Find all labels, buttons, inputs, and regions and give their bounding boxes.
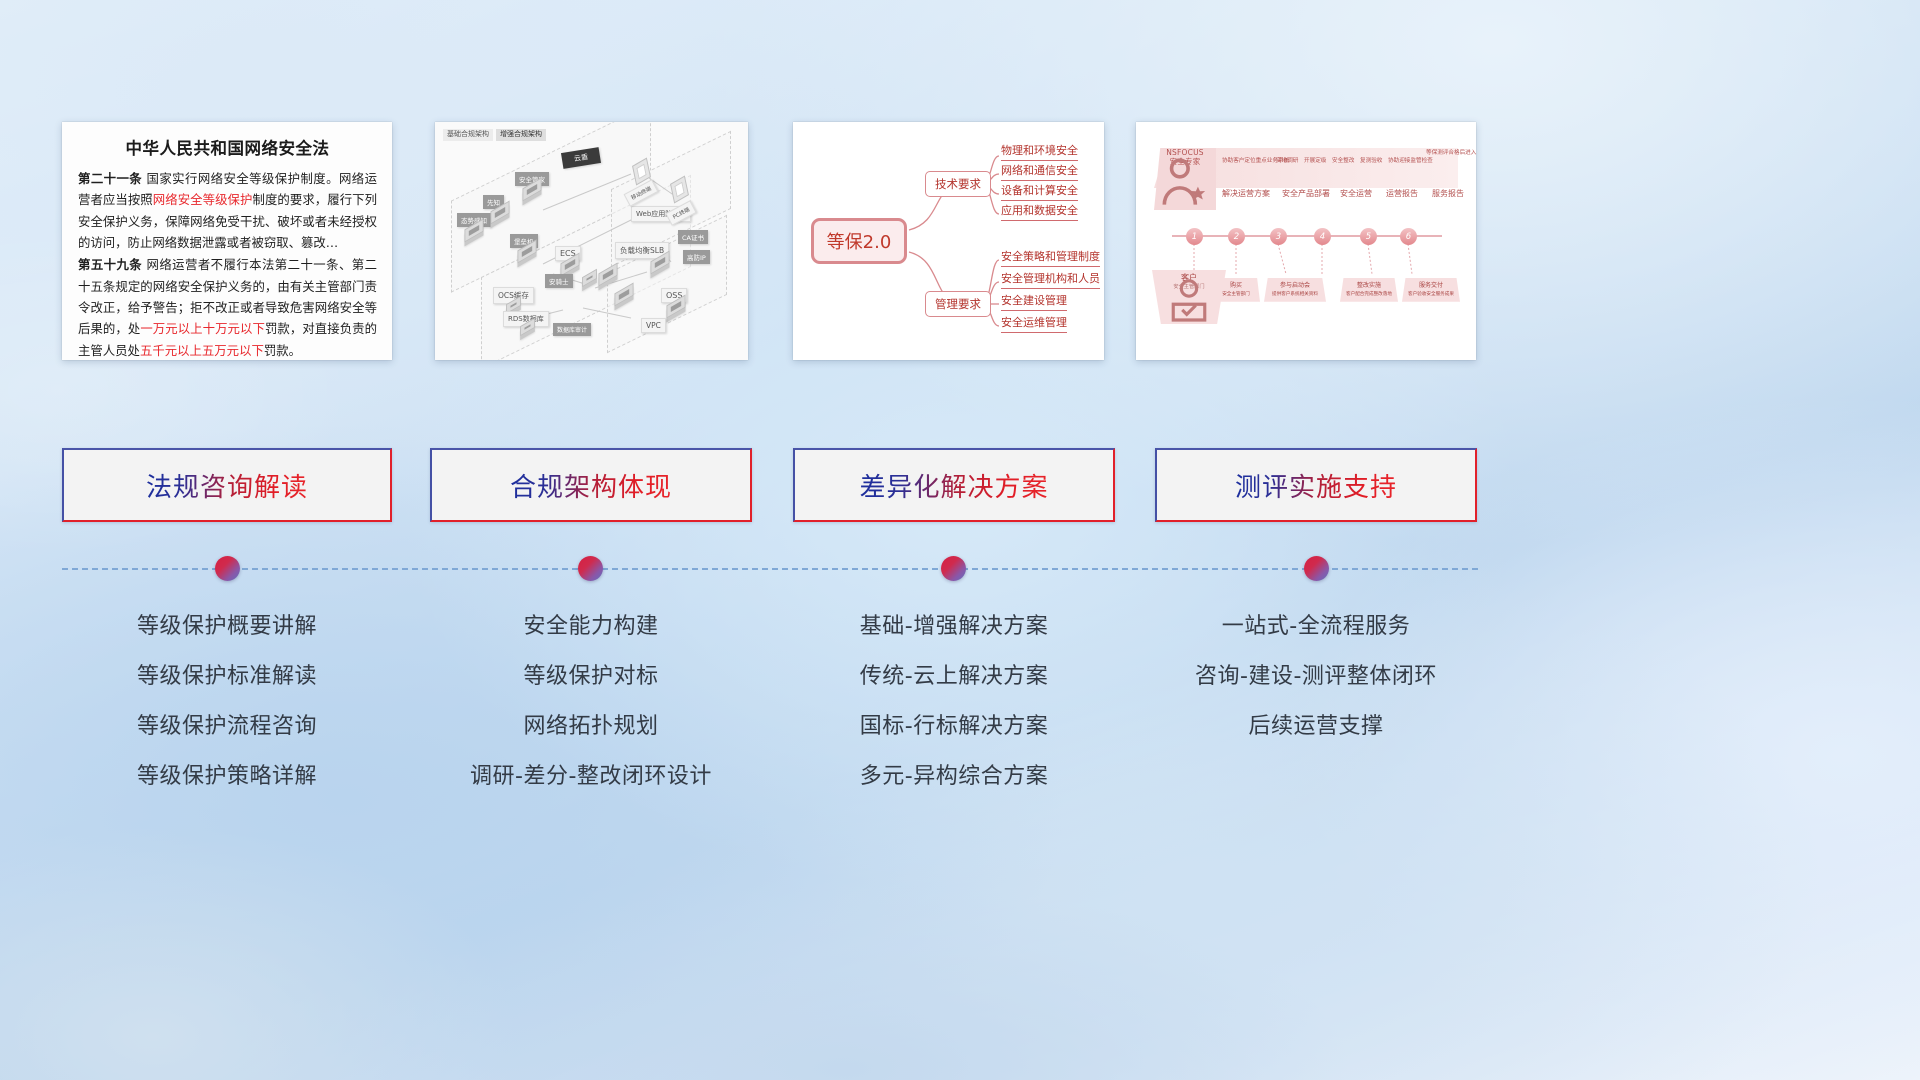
timeline-node-3 (941, 556, 966, 581)
timeline-dashed-line (62, 568, 1478, 570)
article-21-highlight: 网络安全等级保护 (153, 192, 253, 207)
law-article-59: 第五十九条 网络运营者不履行本法第二十一条、第二十五条规定的网络安全保护义务的，… (78, 254, 377, 360)
detail-item-1-0: 等级保护概要讲解 (62, 602, 392, 652)
detail-item-4-2: 后续运营支撑 (1155, 702, 1477, 752)
article-21-label: 第二十一条 (78, 171, 142, 186)
detail-item-3-1: 传统-云上解决方案 (793, 652, 1115, 702)
headline-box-compliance-architecture[interactable]: 合规架构体现 (430, 448, 752, 522)
article-59-highlight-b: 五千元以上五万元以下 (140, 343, 264, 358)
detail-item-2-3: 调研-差分-整改闭环设计 (430, 752, 752, 802)
detail-item-3-2: 国标-行标解决方案 (793, 702, 1115, 752)
card-cloud-architecture[interactable]: 基础合规架构 增强合规架构 (435, 122, 748, 360)
node-ca-certificate: CA证书 (678, 230, 708, 244)
step-dot-6: 6 (1400, 228, 1417, 245)
headline-row: 法规咨询解读 合规架构体现 差异化解决方案 测评实施支持 (0, 448, 1920, 522)
mindmap-leaf-physical-env: 物理和环境安全 (1001, 144, 1078, 161)
mindmap-root: 等保2.0 (811, 218, 907, 264)
bottom-chip-3: 服务交付 客户验收安全服务成果 (1402, 278, 1460, 302)
card-cybersecurity-law[interactable]: 中华人民共和国网络安全法 第二十一条 国家实行网络安全等级保护制度。网络运营者应… (62, 122, 392, 360)
timeline-node-4 (1304, 556, 1329, 581)
article-59-text-c: 罚款。 (264, 343, 301, 358)
law-title: 中华人民共和国网络安全法 (78, 135, 377, 159)
detail-item-2-2: 网络拓扑规划 (430, 702, 752, 752)
bottom-chip-2-sub: 客户配合完成整改落地 (1346, 292, 1392, 297)
node-vpc: VPC (641, 318, 666, 333)
detail-column-2: 安全能力构建 等级保护对标 网络拓扑规划 调研-差分-整改闭环设计 (430, 602, 752, 802)
mindmap-leaf-org-personnel: 安全管理机构和人员 (1001, 272, 1100, 289)
step-dot-4: 4 (1314, 228, 1331, 245)
law-text-block: 中华人民共和国网络安全法 第二十一条 国家实行网络安全等级保护制度。网络运营者应… (62, 122, 392, 360)
mindmap-leaf-construction-mgmt: 安全建设管理 (1001, 294, 1067, 311)
bottom-chip-0-title: 购买 (1230, 282, 1242, 289)
mindmap-leaf-policy-system: 安全策略和管理制度 (1001, 250, 1100, 267)
node-anqishi: 安骑士 (545, 274, 573, 288)
step-dot-2: 2 (1228, 228, 1245, 245)
headline-box-regulation-consulting[interactable]: 法规咨询解读 (62, 448, 392, 522)
detail-item-4-0: 一站式-全流程服务 (1155, 602, 1477, 652)
detail-item-1-1: 等级保护标准解读 (62, 652, 392, 702)
law-article-21: 第二十一条 国家实行网络安全等级保护制度。网络运营者应当按照网络安全等级保护制度… (78, 168, 377, 253)
detail-item-1-3: 等级保护策略详解 (62, 752, 392, 802)
article-59-label: 第五十九条 (78, 257, 142, 272)
bottom-chip-1-title: 参与启动会 (1280, 282, 1310, 289)
detail-column-1: 等级保护概要讲解 等级保护标准解读 等级保护流程咨询 等级保护策略详解 (62, 602, 392, 802)
mindmap-branch-management: 管理要求 (925, 291, 991, 317)
node-anti-ddos-ip: 高防IP (683, 250, 710, 264)
bottom-chip-1: 参与启动会 提供客户系统相关资料 (1264, 278, 1326, 302)
timeline-connector (0, 560, 1920, 600)
detail-item-1-2: 等级保护流程咨询 (62, 702, 392, 752)
detail-item-3-3: 多元-异构综合方案 (793, 752, 1115, 802)
detail-item-3-0: 基础-增强解决方案 (793, 602, 1115, 652)
step-dot-3: 3 (1270, 228, 1287, 245)
mindmap-leaf-device-compute: 设备和计算安全 (1001, 184, 1078, 201)
mindmap-leaf-app-data: 应用和数据安全 (1001, 204, 1078, 221)
detail-column-4: 一站式-全流程服务 咨询-建设-测评整体闭环 后续运营支撑 (1155, 602, 1477, 752)
headline-box-differentiated-solutions[interactable]: 差异化解决方案 (793, 448, 1115, 522)
bottom-chip-1-sub: 提供客户系统相关资料 (1272, 292, 1318, 297)
bottom-chip-3-title: 服务交付 (1419, 282, 1443, 289)
bottom-chip-2-title: 整改实施 (1357, 282, 1381, 289)
headline-label-4: 测评实施支持 (1235, 467, 1397, 504)
card-mindmap-dengbao[interactable]: 等保2.0 技术要求 管理要求 物理和环境安全 网络和通信安全 设备和计算安全 … (793, 122, 1104, 360)
architecture-diagram: 基础合规架构 增强合规架构 (435, 122, 748, 360)
headline-label-3: 差异化解决方案 (859, 467, 1048, 504)
headline-label-1: 法规咨询解读 (146, 467, 308, 504)
detail-item-2-0: 安全能力构建 (430, 602, 752, 652)
article-59-highlight-a: 一万元以上十万元以下 (140, 321, 265, 336)
timeline-node-1 (215, 556, 240, 581)
step-dot-5: 5 (1360, 228, 1377, 245)
detail-item-4-1: 咨询-建设-测评整体闭环 (1155, 652, 1477, 702)
bottom-chip-0-sub: 安全主管部门 (1222, 292, 1250, 297)
preview-card-row: 中华人民共和国网络安全法 第二十一条 国家实行网络安全等级保护制度。网络运营者应… (0, 122, 1920, 367)
mindmap: 等保2.0 技术要求 管理要求 物理和环境安全 网络和通信安全 设备和计算安全 … (793, 122, 1104, 360)
mindmap-leaf-network-comm: 网络和通信安全 (1001, 164, 1078, 181)
bottom-chip-3-sub: 客户验收安全服务成果 (1408, 292, 1454, 297)
bottom-chip-0: 购买 安全主管部门 (1212, 278, 1260, 302)
nsfocus-process-diagram: NSFOCUS 安全专家 协助客户定位重点业务系统 实地调研 开展定级 安全整改… (1136, 122, 1476, 360)
node-database-audit: 数据库审计 (553, 323, 591, 336)
detail-column-3: 基础-增强解决方案 传统-云上解决方案 国标-行标解决方案 多元-异构综合方案 (793, 602, 1115, 802)
detail-item-2-1: 等级保护对标 (430, 652, 752, 702)
card-nsfocus-timeline[interactable]: NSFOCUS 安全专家 协助客户定位重点业务系统 实地调研 开展定级 安全整改… (1136, 122, 1476, 360)
timeline-node-2 (578, 556, 603, 581)
step-dot-1: 1 (1186, 228, 1203, 245)
mindmap-branch-technical: 技术要求 (925, 171, 991, 197)
mindmap-leaf-ops-mgmt: 安全运维管理 (1001, 316, 1067, 333)
bottom-chip-2: 整改实施 客户配合完成整改落地 (1340, 278, 1398, 302)
headline-label-2: 合规架构体现 (510, 467, 672, 504)
headline-box-assessment-support[interactable]: 测评实施支持 (1155, 448, 1477, 522)
